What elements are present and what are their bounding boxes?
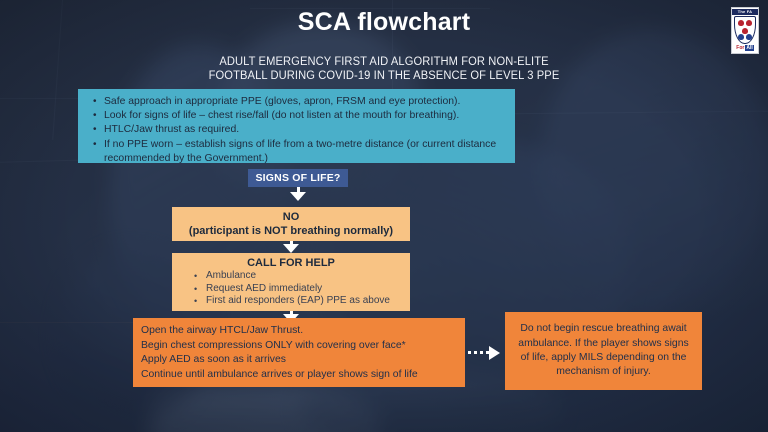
action-line-3: Apply AED as soon as it arrives [141,353,465,368]
no-breathing-box: NO (participant is NOT breathing normall… [172,207,410,241]
signs-of-life-label: SIGNS OF LIFE? [255,172,340,184]
bullet-icon: • [93,123,97,137]
arrow-down-icon [290,192,306,201]
page-subtitle-line-1: ADULT EMERGENCY FIRST AID ALGORITHM FOR … [12,55,757,69]
bullet-icon: • [194,270,197,283]
call-for-help-heading: CALL FOR HELP [180,256,402,270]
list-item-label: Ambulance [206,270,256,281]
bullet-icon: • [194,295,197,308]
list-item: • Safe approach in appropriate PPE (glov… [90,95,505,109]
page-subtitle-line-2: FOOTBALL DURING COVID-19 IN THE ABSENCE … [12,69,757,83]
list-item-label: Look for signs of life – chest rise/fall… [104,110,459,121]
fa-logo-all-text: All [745,45,753,51]
list-item-label: First aid responders (EAP) PPE as above [206,295,390,306]
list-item: • Request AED immediately [180,283,402,296]
page-title: SCA flowchart [0,8,768,37]
action-line-4: Continue until ambulance arrives or play… [141,368,465,383]
list-item: • Ambulance [180,270,402,283]
rescue-breathing-box: Do not begin rescue breathing await ambu… [505,312,702,390]
rescue-box-text: Do not begin rescue breathing await ambu… [513,322,694,379]
list-item-label: HTLC/Jaw thrust as required. [104,124,239,135]
list-item-label: Request AED immediately [206,283,322,294]
bullet-icon: • [93,138,97,152]
bullet-icon: • [93,95,97,109]
arrow-dots [468,351,490,354]
no-box-line-1: NO [283,210,300,224]
bullet-icon: • [93,109,97,123]
list-item-label: Safe approach in appropriate PPE (gloves… [104,96,460,107]
dotted-arrow-right-icon [468,345,504,361]
list-item: • If no PPE worn – establish signs of li… [90,138,505,166]
slide-canvas: The FA For All SCA flowchart ADULT EMERG… [0,0,768,432]
fa-logo-for-text: For [736,45,744,51]
action-line-1: Open the airway HTCL/Jaw Thrust. [141,324,465,339]
call-for-help-box: CALL FOR HELP • Ambulance • Request AED … [172,253,410,311]
page-subtitle: ADULT EMERGENCY FIRST AID ALGORITHM FOR … [0,55,768,83]
list-item-label: If no PPE worn – establish signs of life… [104,139,496,164]
call-for-help-bullet-list: • Ambulance • Request AED immediately • … [180,270,402,308]
bullet-icon: • [194,283,197,296]
assessment-bullet-list: • Safe approach in appropriate PPE (glov… [90,95,505,166]
list-item: • Look for signs of life – chest rise/fa… [90,109,505,123]
resuscitation-action-box: Open the airway HTCL/Jaw Thrust. Begin c… [133,318,465,387]
action-line-2: Begin chest compressions ONLY with cover… [141,339,465,354]
arrow-head [489,346,500,360]
arrow-down-icon [283,244,299,253]
list-item: • HTLC/Jaw thrust as required. [90,123,505,137]
signs-of-life-box: SIGNS OF LIFE? [248,169,348,187]
assessment-box: • Safe approach in appropriate PPE (glov… [78,89,515,163]
list-item: • First aid responders (EAP) PPE as abov… [180,295,402,308]
fa-logo-for-all-badge: For All [736,45,753,51]
no-box-line-2: (participant is NOT breathing normally) [189,224,393,238]
